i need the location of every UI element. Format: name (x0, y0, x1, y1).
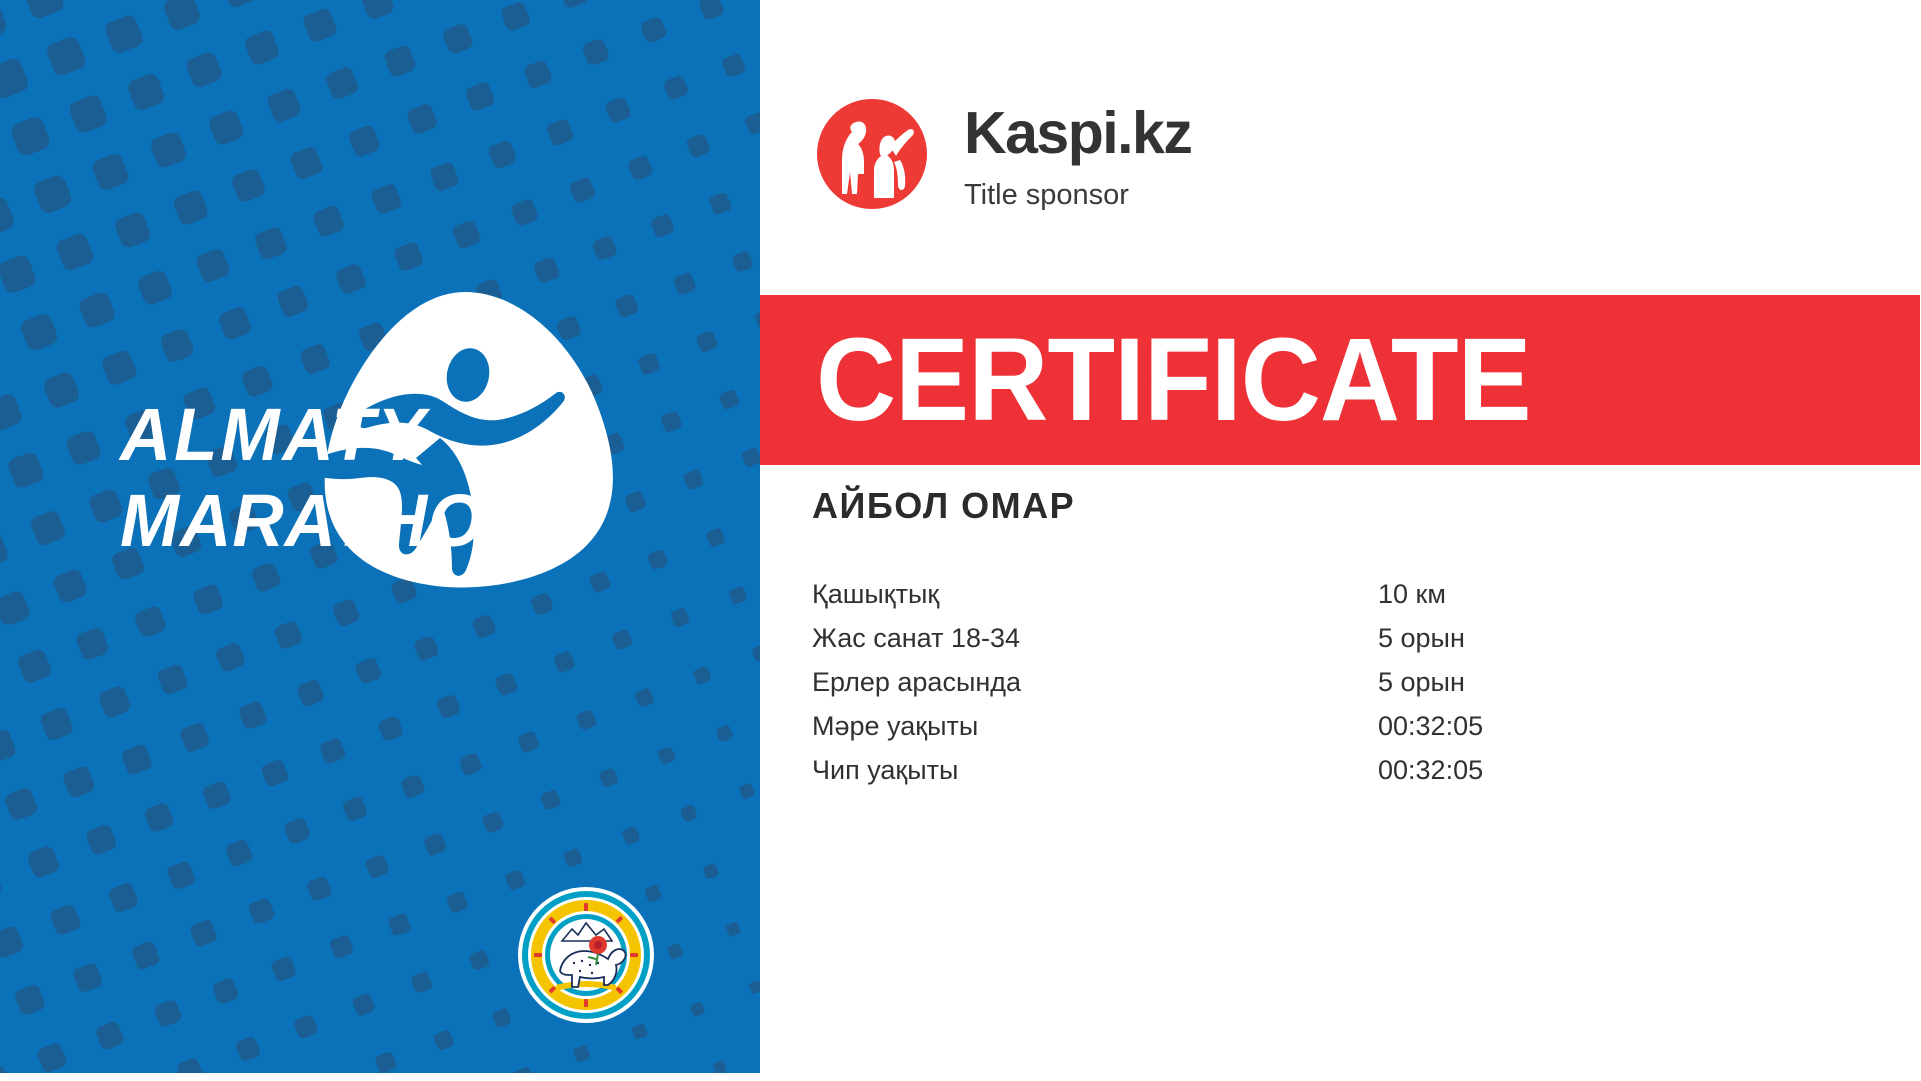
kaspi-logo-icon (816, 98, 928, 210)
certificate-banner: CERTIFICATE (760, 295, 1920, 465)
result-value: 00:32:05 (1378, 748, 1483, 792)
almaty-marathon-logo: ALMATY MARATHON (0, 280, 760, 600)
sponsor-role: Title sponsor (964, 181, 1191, 210)
sponsor-text-block: Kaspi.kz Title sponsor (964, 98, 1191, 210)
sponsor-name: Kaspi.kz (964, 104, 1191, 163)
title-sponsor-block: Kaspi.kz Title sponsor (816, 98, 1191, 210)
almaty-city-emblem-icon (516, 885, 656, 1025)
result-label: Жас санат 18-34 (812, 616, 1020, 660)
svg-text:ALMATY: ALMATY (118, 394, 430, 477)
athlete-name: АЙБОЛ ОМАР (812, 485, 1075, 527)
result-row: Мәре уақыты00:32:05 (812, 704, 1852, 748)
svg-text:MARATHON: MARATHON (120, 480, 537, 563)
results-table: Қашықтық10 кмЖас санат 18-345 орынЕрлер … (812, 572, 1852, 792)
result-value: 00:32:05 (1378, 704, 1483, 748)
result-label: Қашықтық (812, 572, 939, 616)
result-value: 10 км (1378, 572, 1446, 616)
result-label: Мәре уақыты (812, 704, 978, 748)
left-branding-panel: ALMATY MARATHON (0, 0, 760, 1073)
result-row: Чип уақыты00:32:05 (812, 748, 1852, 792)
result-label: Ерлер арасында (812, 660, 1021, 704)
result-value: 5 орын (1378, 660, 1465, 704)
certificate-page: ALMATY MARATHON (0, 0, 1921, 1081)
result-value: 5 орын (1378, 616, 1465, 660)
certificate-title: CERTIFICATE (816, 321, 1531, 439)
right-content-panel: Kaspi.kz Title sponsor CERTIFICATE АЙБОЛ… (760, 0, 1921, 1081)
result-row: Жас санат 18-345 орын (812, 616, 1852, 660)
result-row: Қашықтық10 км (812, 572, 1852, 616)
result-row: Ерлер арасында5 орын (812, 660, 1852, 704)
result-label: Чип уақыты (812, 748, 958, 792)
